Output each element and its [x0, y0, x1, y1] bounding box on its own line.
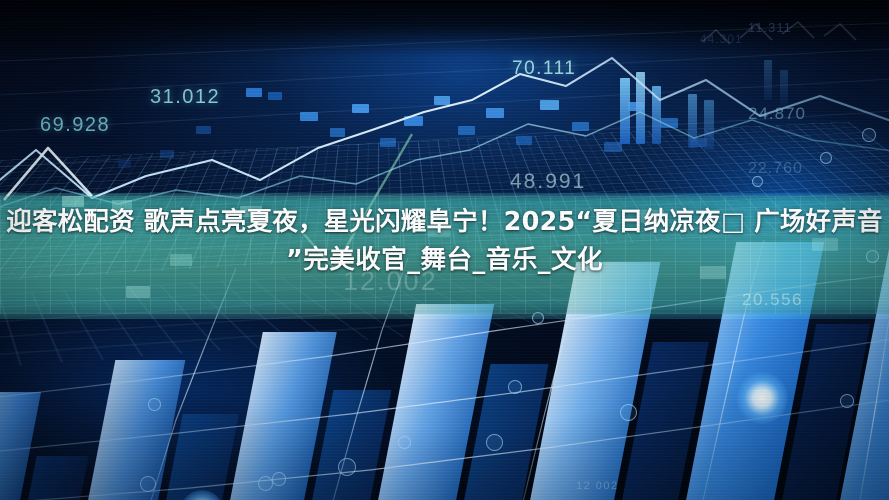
numeric-label-20556: 20.556 — [742, 290, 803, 310]
numeric-label-11311: 11.311 — [748, 20, 792, 35]
numeric-label-22760: 22.760 — [748, 160, 803, 178]
overlay-title: 迎客松配资 歌声点亮夏夜，星光闪耀阜宁！2025“夏日纳凉夜□ 广场好声音 ”完… — [0, 203, 889, 279]
numeric-label-24870: 24.870 — [748, 104, 806, 124]
numeric-label-12002-low: 12 002 — [576, 480, 619, 492]
numeric-label-31012: 31.012 — [150, 86, 220, 109]
numeric-label-70111: 70.111 — [512, 58, 576, 80]
title-line-1: 迎客松配资 歌声点亮夏夜，星光闪耀阜宁！2025“夏日纳凉夜□ 广场好声音 — [2, 203, 887, 241]
numeric-label-48991: 48.991 — [510, 170, 586, 194]
numeric-label-69928: 69.928 — [40, 114, 110, 137]
numeric-label-44301: 44.301 — [700, 32, 743, 46]
thumbnail-canvas: 31.012 69.928 70.111 11.311 44.301 48.99… — [0, 0, 889, 500]
title-line-2: ”完美收官_舞台_音乐_文化 — [2, 241, 887, 279]
